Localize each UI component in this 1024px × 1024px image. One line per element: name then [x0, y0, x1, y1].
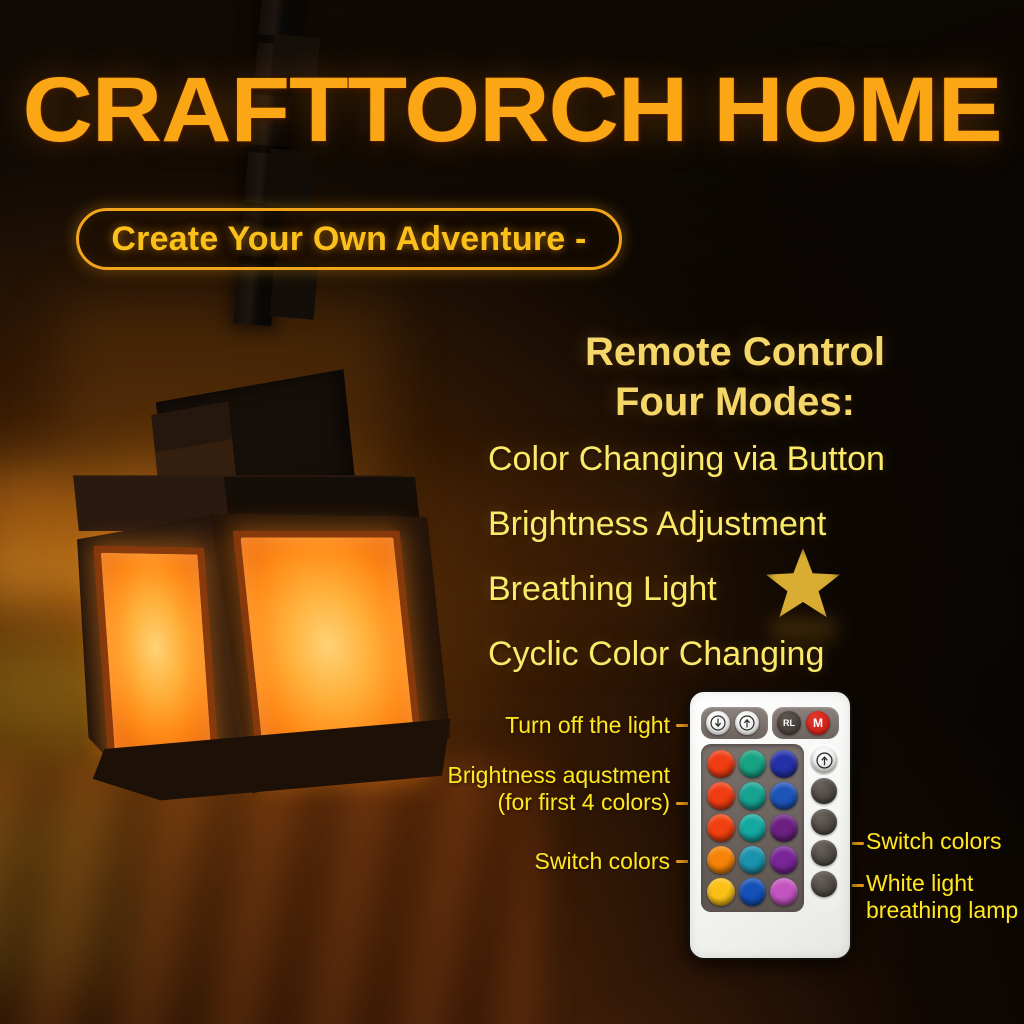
- callout-brightness: Brightness aqustment (for first 4 colors…: [300, 762, 670, 816]
- features-heading: Remote Control Four Modes:: [455, 328, 1015, 427]
- callout-white-light: White light breathing lamp: [866, 870, 1024, 924]
- color-button-r3-c1[interactable]: [707, 814, 735, 842]
- power-mode-button-group: RL M: [772, 707, 839, 739]
- color-button-r5-c3[interactable]: [770, 878, 798, 906]
- side-gray-button-2[interactable]: [811, 809, 837, 835]
- callout-switch-colors-left: Switch colors: [330, 848, 670, 875]
- remote-side-button-column: [808, 744, 840, 912]
- tagline-text: Create Your Own Adventure -: [111, 220, 586, 259]
- white-light-button[interactable]: [811, 747, 837, 773]
- callout-white-light-line1: White light: [866, 870, 1024, 897]
- color-button-r4-c1[interactable]: [707, 846, 735, 874]
- color-button-r1-c1[interactable]: [707, 750, 735, 778]
- callout-brightness-line1: Brightness aqustment: [300, 762, 670, 789]
- remote-color-pad: [701, 744, 804, 912]
- list-item: Brightness Adjustment: [488, 505, 1008, 544]
- color-button-r3-c2[interactable]: [739, 814, 767, 842]
- color-button-r1-c2[interactable]: [739, 750, 767, 778]
- mode-button[interactable]: M: [806, 711, 830, 735]
- remote-top-button-row: RL M: [701, 707, 839, 739]
- rl-button[interactable]: RL: [777, 711, 801, 735]
- callout-brightness-line2: (for first 4 colors): [300, 789, 670, 816]
- list-item: Color Changing via Button: [488, 440, 1008, 479]
- brightness-button-group: [701, 707, 768, 739]
- lantern-panel-frame-left: [93, 546, 219, 766]
- color-button-r3-c3[interactable]: [770, 814, 798, 842]
- features-list: Color Changing via Button Brightness Adj…: [488, 440, 1008, 700]
- color-button-r4-c3[interactable]: [770, 846, 798, 874]
- callout-switch-colors-right: Switch colors: [866, 828, 1024, 855]
- color-button-r1-c3[interactable]: [770, 750, 798, 778]
- color-button-r5-c2[interactable]: [739, 878, 767, 906]
- list-item: Cyclic Color Changing: [488, 635, 1008, 674]
- callout-turn-off: Turn off the light: [330, 712, 670, 739]
- poster-canvas: CRAFTTORCH HOME Create Your Own Adventur…: [0, 0, 1024, 1024]
- lantern-body: [37, 360, 479, 820]
- arrow-up-circle-icon: [739, 715, 755, 731]
- side-gray-button-4[interactable]: [811, 871, 837, 897]
- remote-control[interactable]: RL M: [688, 690, 852, 960]
- arrow-down-circle-icon: [710, 715, 726, 731]
- color-button-r4-c2[interactable]: [739, 846, 767, 874]
- color-button-r2-c3[interactable]: [770, 782, 798, 810]
- side-gray-button-3[interactable]: [811, 840, 837, 866]
- side-gray-button-1[interactable]: [811, 778, 837, 804]
- arrow-up-circle-icon: [816, 752, 833, 769]
- color-button-r2-c2[interactable]: [739, 782, 767, 810]
- brightness-down-button[interactable]: [706, 711, 730, 735]
- color-button-r5-c1[interactable]: [707, 878, 735, 906]
- brightness-up-button[interactable]: [735, 711, 759, 735]
- page-title: CRAFTTORCH HOME: [0, 64, 1024, 156]
- features-heading-line1: Remote Control: [455, 328, 1015, 378]
- list-item: Breathing Light: [488, 570, 1008, 609]
- callout-white-light-line2: breathing lamp: [866, 897, 1024, 924]
- color-button-grid: [707, 750, 798, 906]
- color-button-r2-c1[interactable]: [707, 782, 735, 810]
- tagline-pill: Create Your Own Adventure -: [76, 208, 622, 270]
- features-heading-line2: Four Modes:: [455, 378, 1015, 428]
